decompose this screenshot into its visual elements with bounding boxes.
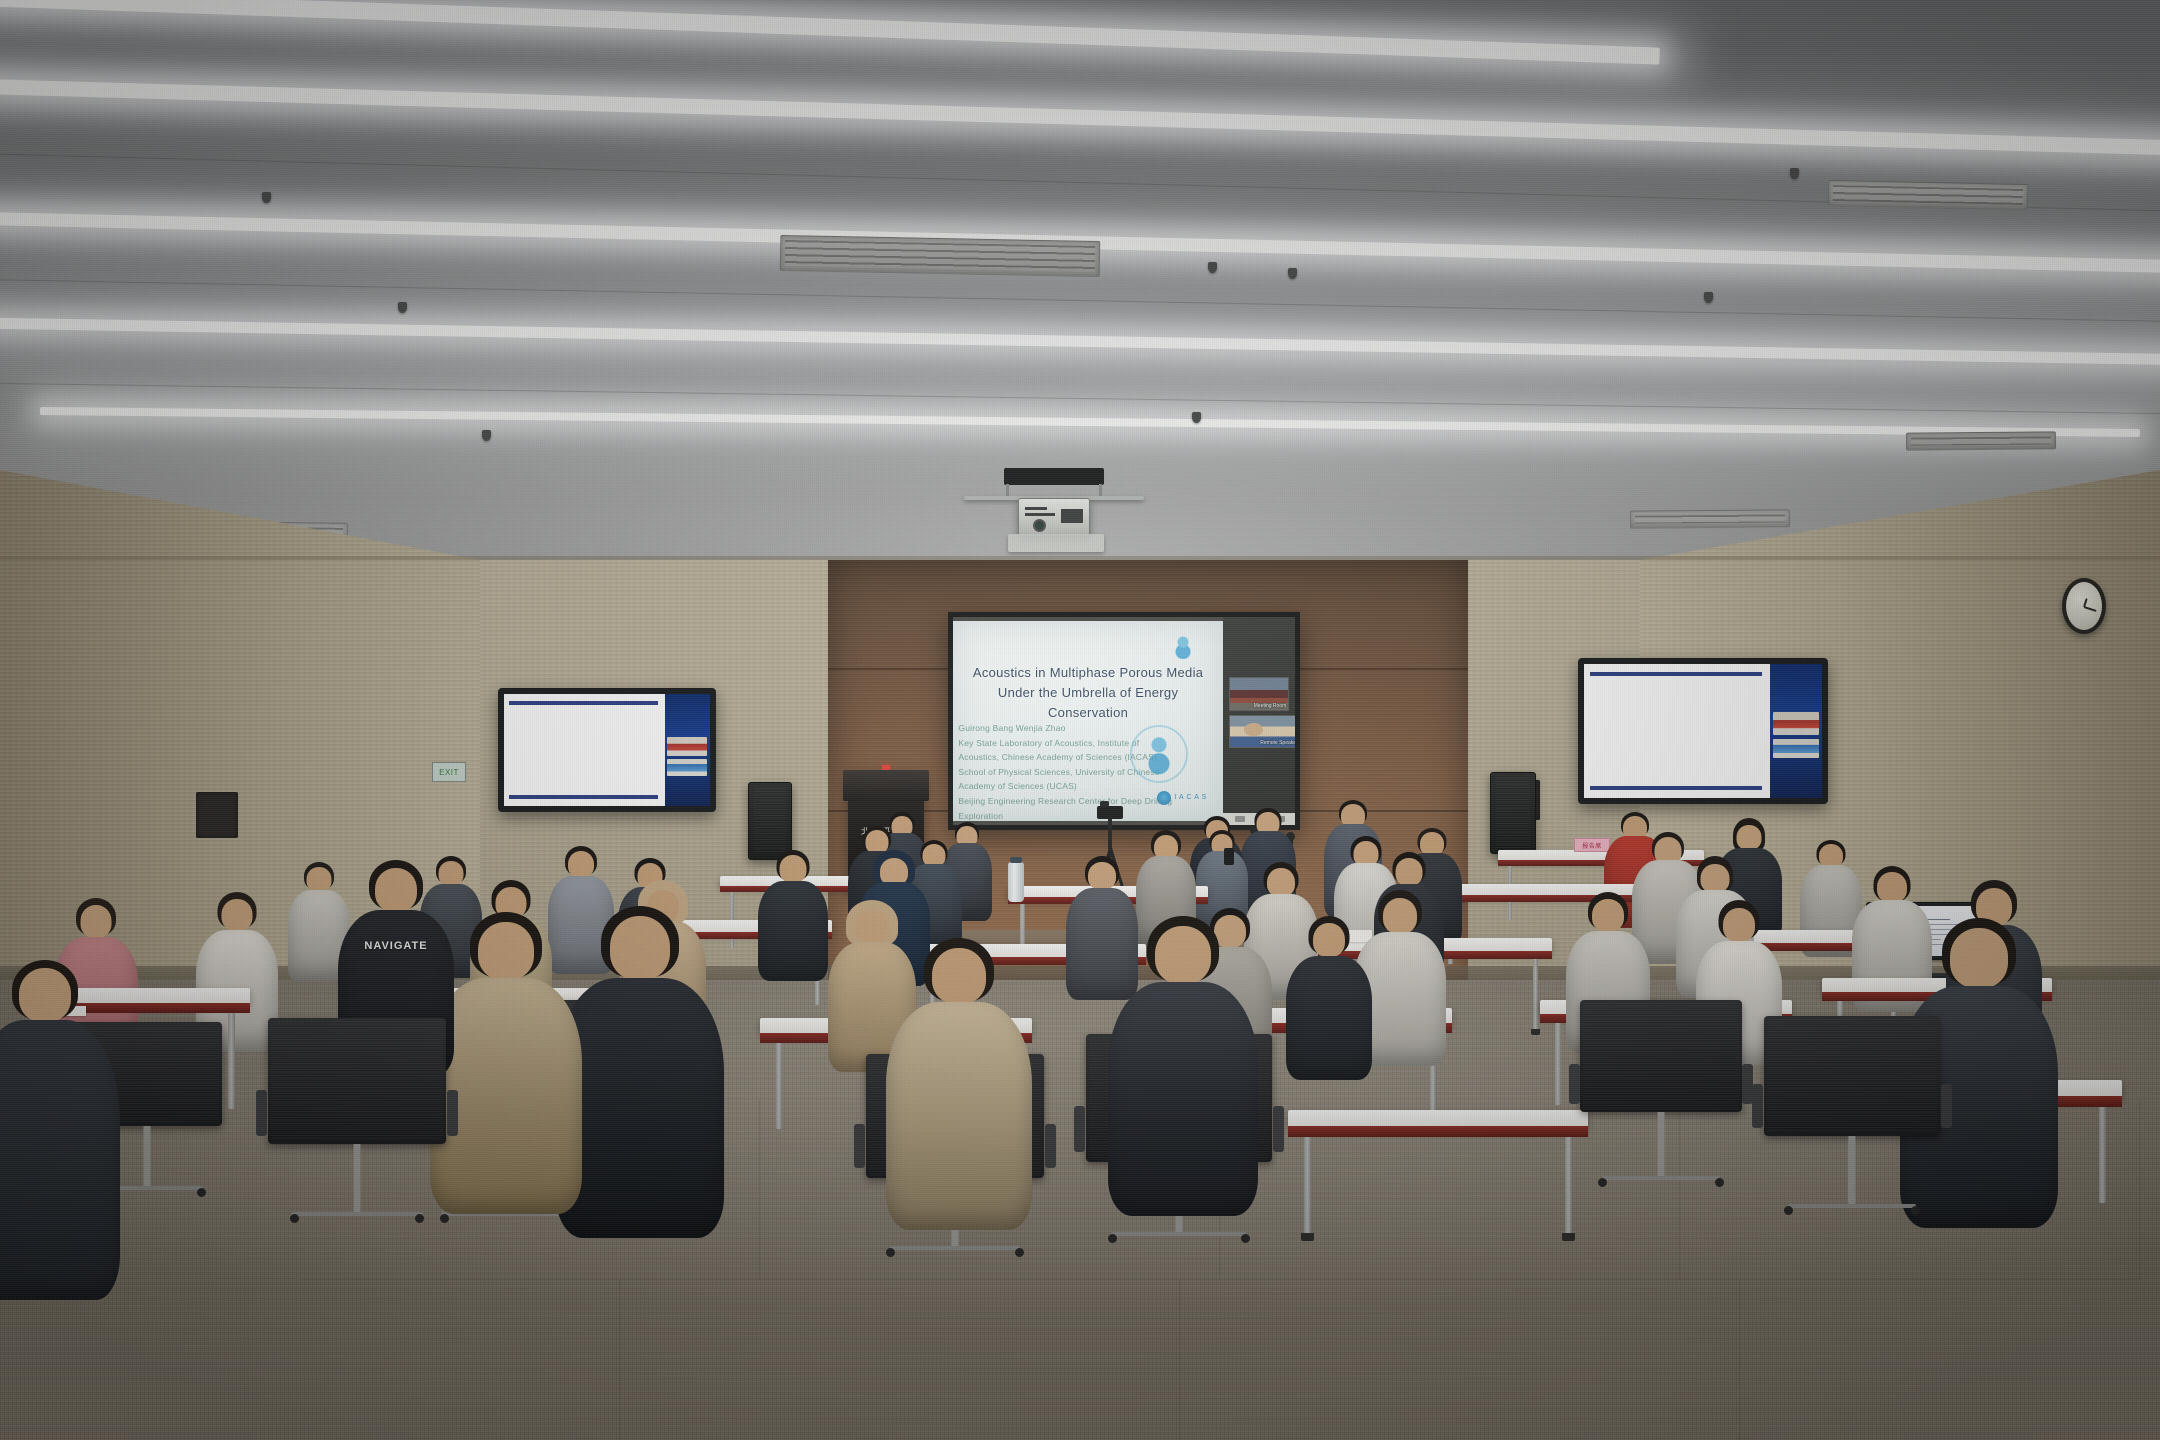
attendee xyxy=(1108,916,1258,1216)
ceiling-projector xyxy=(996,468,1112,540)
projector-lens xyxy=(1033,519,1046,532)
ceiling xyxy=(0,0,2160,580)
sprinkler-head xyxy=(262,192,271,203)
sprinkler-head xyxy=(1208,262,1217,273)
jacket-print-label: NAVIGATE xyxy=(364,940,427,952)
display-sidebar xyxy=(1770,664,1822,798)
video-conference-panel: Meeting Room Remote Speaker xyxy=(1223,617,1295,825)
wordmark-icon xyxy=(1157,791,1171,805)
sprinkler-head xyxy=(1192,412,1201,423)
water-bottle[interactable] xyxy=(1008,862,1024,902)
side-display-right xyxy=(1578,658,1828,804)
loudspeaker-left xyxy=(748,782,792,860)
wall-air-vent xyxy=(196,792,238,838)
attendee xyxy=(758,850,828,980)
slide-affiliation: Beijing Engineering Research Center for … xyxy=(958,794,1190,809)
display-sidebar xyxy=(665,694,710,806)
sprinkler-head xyxy=(398,302,407,313)
institute-seal-icon xyxy=(1130,725,1188,783)
vc-tile-meeting-room: Meeting Room xyxy=(1229,677,1289,710)
exit-sign: EXIT xyxy=(432,762,466,782)
sprinkler-head xyxy=(1288,268,1297,279)
chair[interactable] xyxy=(1580,1000,1742,1208)
display-thumbnail xyxy=(1773,739,1819,758)
side-display-left-screen xyxy=(504,694,710,806)
ceiling-air-vent xyxy=(1630,509,1790,528)
side-display-left xyxy=(498,688,716,812)
display-thumbnail xyxy=(1773,712,1819,735)
vc-tile-remote-speaker: Remote Speaker xyxy=(1229,715,1295,748)
loudspeaker-right xyxy=(1490,772,1536,854)
presentation-slide: Acoustics in Multiphase Porous Media Und… xyxy=(953,621,1223,821)
ceiling-air-vent xyxy=(780,235,1101,277)
desk-nameplate-label: 报告席 xyxy=(1582,841,1602,850)
bottle-cap xyxy=(1010,857,1022,863)
sprinkler-head xyxy=(1790,168,1799,179)
sprinkler-head xyxy=(482,430,491,441)
display-content-area xyxy=(1584,664,1770,798)
lecture-hall-photo: EXIT Acoustics in Multiphase Porous Medi… xyxy=(0,0,2160,1440)
sprinkler-head xyxy=(1704,292,1713,303)
chair[interactable] xyxy=(268,1018,446,1246)
projection-surface: Acoustics in Multiphase Porous Media Und… xyxy=(953,617,1295,825)
wordmark-label: I A C A S xyxy=(1174,794,1207,801)
vc-tile-label: Remote Speaker xyxy=(1260,740,1295,746)
attendee xyxy=(886,938,1032,1230)
vc-tile-label: Meeting Room xyxy=(1254,703,1287,709)
video-camera xyxy=(1097,806,1123,819)
table-row xyxy=(1288,1110,1588,1128)
slide-title-line-1: Acoustics in Multiphase Porous Media xyxy=(973,665,1203,680)
attendee xyxy=(1286,916,1372,1078)
projection-screen: Acoustics in Multiphase Porous Media Und… xyxy=(948,612,1300,830)
wall-clock xyxy=(2062,578,2106,634)
display-content-area xyxy=(504,694,665,806)
chair[interactable] xyxy=(1764,1016,1940,1238)
institute-wordmark: I A C A S xyxy=(1157,791,1207,805)
attendee xyxy=(0,960,120,1300)
slide-affiliation: Exploration xyxy=(958,809,1190,824)
institute-logo-icon xyxy=(1170,633,1196,659)
slide-title-line-2: Under the Umbrella of Energy Conservatio… xyxy=(969,683,1207,723)
smartphone[interactable] xyxy=(1224,848,1234,865)
side-display-right-screen xyxy=(1584,664,1822,798)
display-thumbnail xyxy=(667,737,707,756)
slide-title: Acoustics in Multiphase Porous Media Und… xyxy=(969,663,1207,723)
ceiling-air-vent xyxy=(1906,431,2056,450)
ceiling-air-vent xyxy=(1828,180,2029,210)
display-thumbnail xyxy=(667,759,707,776)
lectern-top xyxy=(843,770,930,801)
exit-sign-label: EXIT xyxy=(439,768,459,777)
